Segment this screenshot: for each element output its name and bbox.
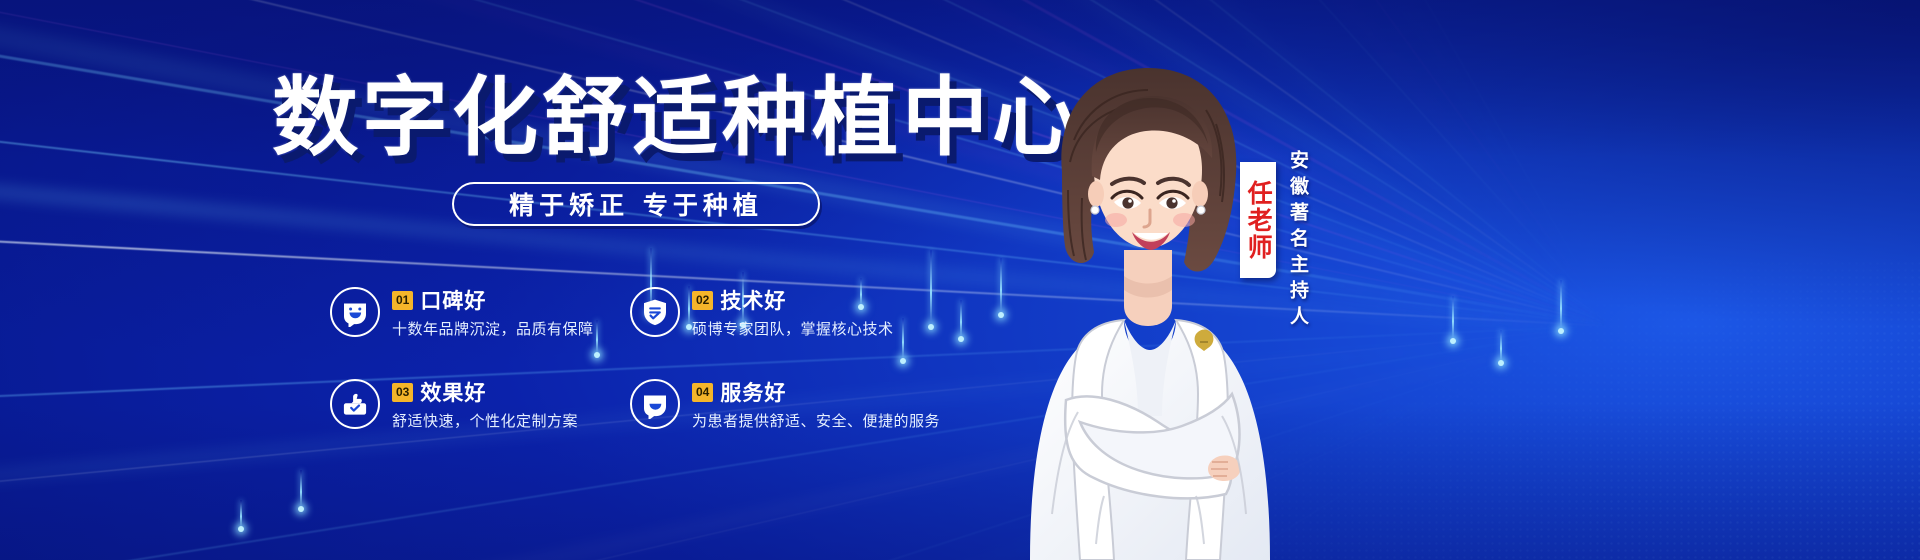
sparkle-line xyxy=(300,470,302,510)
feature-item-2[interactable]: 02 技术好 硕博专家团队，掌握核心技术 xyxy=(630,272,950,352)
smile-face-icon xyxy=(330,287,380,337)
feature-number-4: 04 xyxy=(692,383,713,402)
subtitle-text: 精于矫正 专于种植 xyxy=(509,186,763,222)
feature-text-3: 03 效果好 舒适快速，个性化定制方案 xyxy=(392,377,578,431)
smiley-icon xyxy=(630,379,680,429)
sparkle-line xyxy=(1452,296,1454,342)
presenter-name: 任老师 xyxy=(1245,180,1271,261)
feature-item-4[interactable]: 04 服务好 为患者提供舒适、安全、便捷的服务 xyxy=(630,364,950,444)
feature-item-3[interactable]: 03 效果好 舒适快速，个性化定制方案 xyxy=(330,364,630,444)
feature-desc-1: 十数年品牌沉淀，品质有保障 xyxy=(392,318,594,339)
presenter-title-vertical: 安徽著名主持人 xyxy=(1288,150,1307,332)
feature-title-2: 技术好 xyxy=(720,285,786,315)
feature-text-2: 02 技术好 硕博专家团队，掌握核心技术 xyxy=(692,285,894,339)
feature-list: 01 口碑好 十数年品牌沉淀，品质有保障 02 技术好 xyxy=(330,272,950,444)
feature-desc-2: 硕博专家团队，掌握核心技术 xyxy=(692,318,894,339)
feature-title-3: 效果好 xyxy=(420,377,486,407)
feature-desc-3: 舒适快速，个性化定制方案 xyxy=(392,410,578,431)
sparkle-line xyxy=(1560,280,1562,332)
feature-number-2: 02 xyxy=(692,291,713,310)
feature-text-4: 04 服务好 为患者提供舒适、安全、便捷的服务 xyxy=(692,377,940,431)
sparkle-line xyxy=(240,500,242,530)
presenter-name-badge: 任老师 xyxy=(1240,162,1276,278)
feature-number-1: 01 xyxy=(392,291,413,310)
feature-desc-4: 为患者提供舒适、安全、便捷的服务 xyxy=(692,410,940,431)
sparkle-line xyxy=(960,300,962,340)
feature-number-3: 03 xyxy=(392,383,413,402)
feature-title-1: 口碑好 xyxy=(420,285,486,315)
subtitle-pill: 精于矫正 专于种植 xyxy=(452,182,820,226)
earring xyxy=(1197,206,1205,214)
promo-banner: 数字化舒适种植中心 精于矫正 专于种植 01 口碑好 十数年品牌沉淀，品质有保障 xyxy=(0,0,1920,560)
feature-text-1: 01 口碑好 十数年品牌沉淀，品质有保障 xyxy=(392,285,594,339)
feature-item-1[interactable]: 01 口碑好 十数年品牌沉淀，品质有保障 xyxy=(330,272,630,352)
feature-title-4: 服务好 xyxy=(720,377,786,407)
blush-right xyxy=(1173,213,1195,227)
page-title: 数字化舒适种植中心 xyxy=(272,68,1002,168)
doctor-portrait-illustration xyxy=(1000,44,1300,560)
shield-check-icon xyxy=(630,287,680,337)
sparkle-line xyxy=(1500,330,1502,364)
thumbs-up-icon xyxy=(330,379,380,429)
blush-left xyxy=(1105,213,1127,227)
